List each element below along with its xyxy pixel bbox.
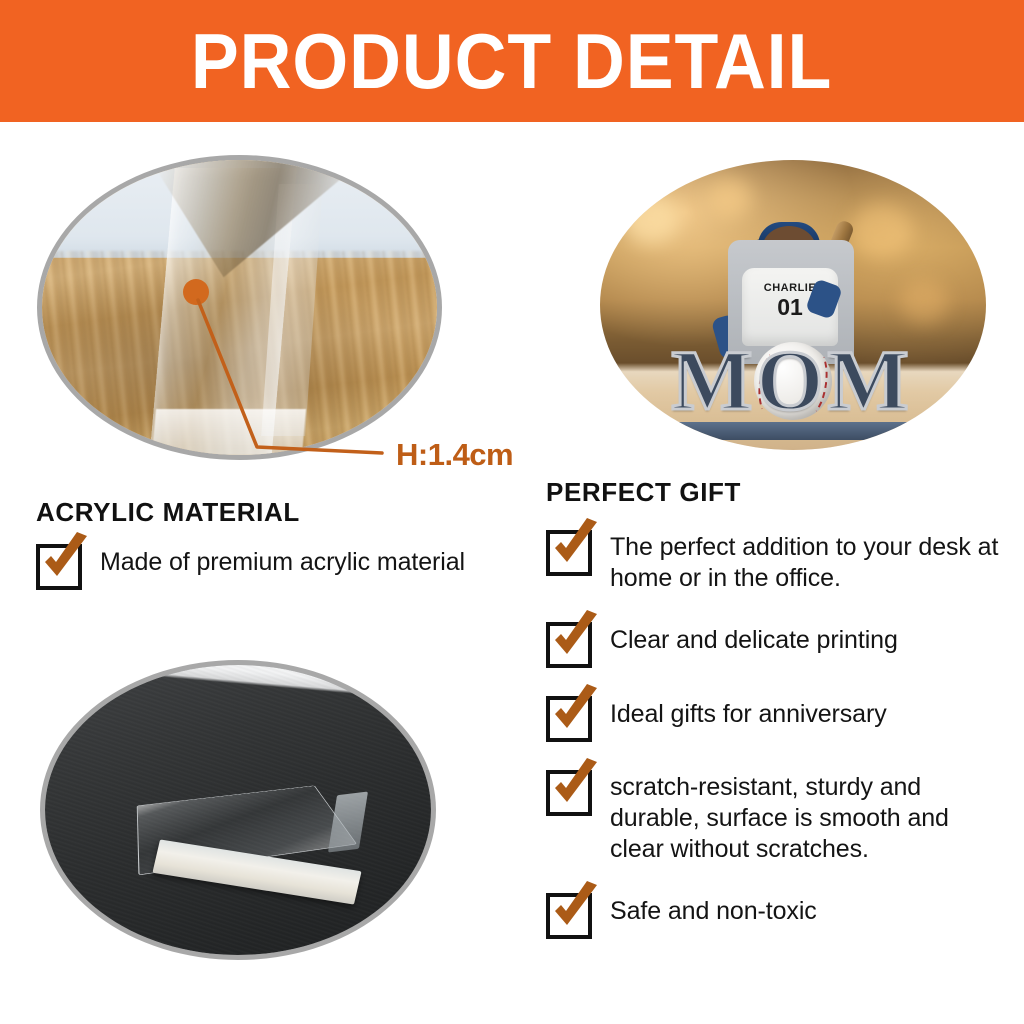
page-header-banner: PRODUCT DETAIL xyxy=(0,0,1024,122)
checkbox-checked-icon xyxy=(546,770,592,816)
dimension-anchor-dot xyxy=(183,279,209,305)
checkbox-checked-icon xyxy=(36,544,82,590)
feature-item: Clear and delicate printing xyxy=(546,620,1006,668)
figurine-word-mom: MOM xyxy=(642,334,942,426)
feature-text: The perfect addition to your desk at hom… xyxy=(610,528,1006,594)
feature-text: scratch-resistant, sturdy and durable, s… xyxy=(610,768,1006,865)
feature-item: scratch-resistant, sturdy and durable, s… xyxy=(546,768,1006,865)
section-heading-perfect-gift: PERFECT GIFT xyxy=(546,477,741,508)
feature-text: Clear and delicate printing xyxy=(610,620,898,657)
feature-text: Made of premium acrylic material xyxy=(100,542,465,579)
checkbox-checked-icon xyxy=(546,530,592,576)
checkbox-checked-icon xyxy=(546,622,592,668)
feature-text: Safe and non-toxic xyxy=(610,891,817,928)
acrylic-slab xyxy=(141,727,365,895)
feature-list-acrylic-material: Made of premium acrylic material xyxy=(36,542,526,616)
feature-item: The perfect addition to your desk at hom… xyxy=(546,528,1006,594)
dimension-leader-line xyxy=(150,260,430,480)
photo-acrylic-slab-on-slate xyxy=(40,660,436,960)
page-title: PRODUCT DETAIL xyxy=(191,22,832,100)
section-heading-acrylic-material: ACRYLIC MATERIAL xyxy=(36,497,300,528)
dimension-pointer-path xyxy=(198,300,382,453)
feature-text: Ideal gifts for anniversary xyxy=(610,694,887,731)
dimension-label-height: H:1.4cm xyxy=(396,437,513,473)
figurine-base xyxy=(648,422,936,440)
photo-mom-baseball-figurine: CHARLIE 01 MOM xyxy=(600,160,986,450)
checkbox-checked-icon xyxy=(546,893,592,939)
product-detail-page: PRODUCT DETAIL CHARLIE 01 xyxy=(0,0,1024,1024)
feature-item: Safe and non-toxic xyxy=(546,891,1006,939)
figurine-sculpture: CHARLIE 01 MOM xyxy=(642,212,942,442)
slab-right-face xyxy=(328,791,368,852)
checkbox-checked-icon xyxy=(546,696,592,742)
feature-item: Ideal gifts for anniversary xyxy=(546,694,1006,742)
feature-list-perfect-gift: The perfect addition to your desk at hom… xyxy=(546,528,1006,965)
feature-item: Made of premium acrylic material xyxy=(36,542,526,590)
